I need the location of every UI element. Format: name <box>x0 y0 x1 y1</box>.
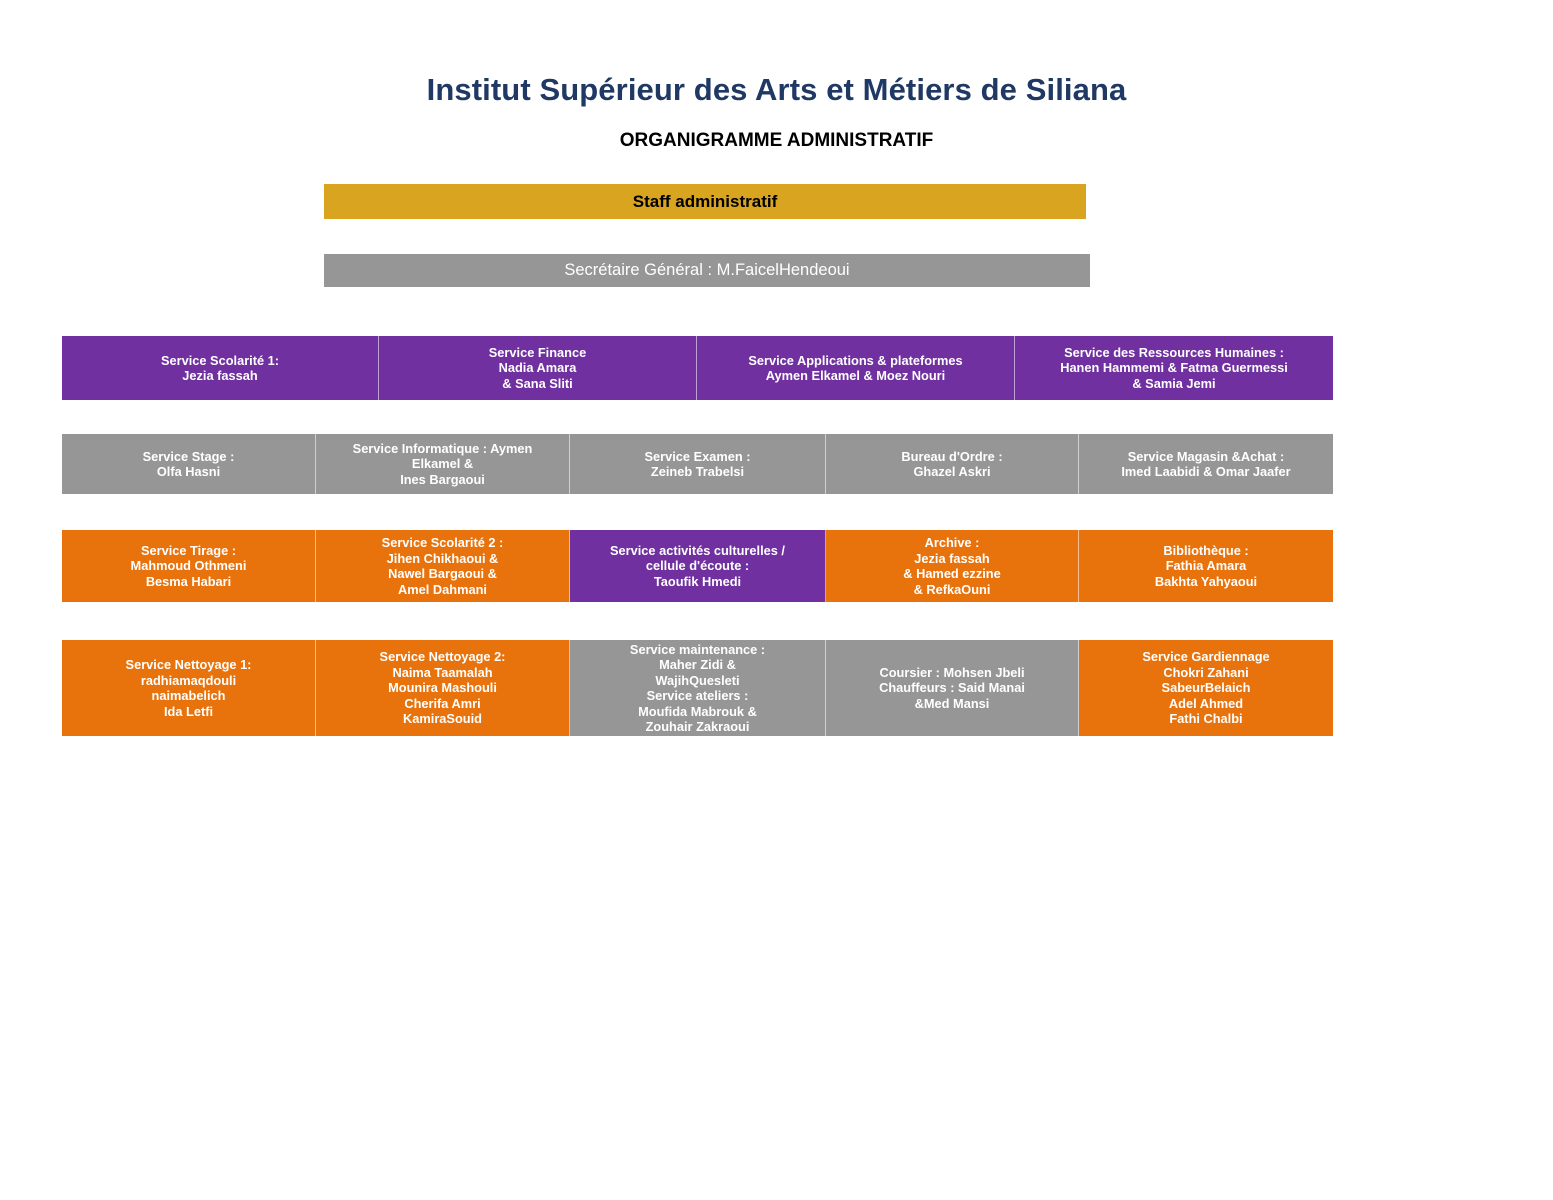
service-cell: Service Applications & plateformesAymen … <box>697 336 1015 400</box>
service-cell-line: Imed Laabidi & Omar Jaafer <box>1121 464 1290 480</box>
service-cell-line: Service Nettoyage 2: <box>380 649 506 665</box>
service-cell-line: &Med Mansi <box>915 696 990 712</box>
service-cell-line: Ines Bargaoui <box>400 472 485 488</box>
service-cell-line: & Samia Jemi <box>1132 376 1215 392</box>
service-cell-line: Coursier : Mohsen Jbeli <box>879 665 1024 681</box>
service-cell-line: Olfa Hasni <box>157 464 220 480</box>
service-cell-line: & RefkaOuni <box>914 582 991 598</box>
secretaire-general-bar: Secrétaire Général : M.FaicelHendeoui <box>324 254 1090 287</box>
service-cell-line: cellule d'écoute : <box>646 558 749 574</box>
service-cell-line: Naima Taamalah <box>392 665 492 681</box>
service-cell: Bureau d'Ordre :Ghazel Askri <box>826 434 1079 494</box>
service-cell-line: Service Examen : <box>645 449 751 465</box>
service-cell: Service FinanceNadia Amara& Sana Sliti <box>379 336 697 400</box>
service-cell-line: Service Magasin &Achat : <box>1128 449 1284 465</box>
staff-administratif-bar: Staff administratif <box>324 184 1086 219</box>
service-cell-line: WajihQuesleti <box>655 673 739 689</box>
service-cell-line: Nawel Bargaoui & <box>388 566 497 582</box>
service-cell: Service Scolarité 1:Jezia fassah <box>62 336 379 400</box>
service-cell-line: Jezia fassah <box>914 551 989 567</box>
service-row-4: Service Nettoyage 1:radhiamaqdoulinaimab… <box>62 640 1333 736</box>
service-cell: Service maintenance :Maher Zidi &WajihQu… <box>570 640 826 736</box>
service-cell-line: Amel Dahmani <box>398 582 487 598</box>
service-cell: Service Tirage :Mahmoud OthmeniBesma Hab… <box>62 530 316 602</box>
organigramme-page: Institut Supérieur des Arts et Métiers d… <box>0 0 1553 1200</box>
service-cell-line: Fathia Amara <box>1166 558 1247 574</box>
chart-subtitle: ORGANIGRAMME ADMINISTRATIF <box>0 128 1553 154</box>
service-cell-line: Besma Habari <box>146 574 231 590</box>
service-cell-line: Service Stage : <box>143 449 235 465</box>
service-cell-line: Service Finance <box>489 345 586 361</box>
service-row-1: Service Scolarité 1:Jezia fassahService … <box>62 336 1333 400</box>
service-cell-line: Adel Ahmed <box>1169 696 1243 712</box>
service-cell: Service Examen :Zeineb Trabelsi <box>570 434 826 494</box>
service-cell-line: Service Applications & plateformes <box>748 353 962 369</box>
service-cell: Service Scolarité 2 :Jihen Chikhaoui &Na… <box>316 530 570 602</box>
service-cell: Coursier : Mohsen JbeliChauffeurs : Said… <box>826 640 1079 736</box>
service-cell: Archive :Jezia fassah& Hamed ezzine& Ref… <box>826 530 1079 602</box>
service-cell-line: Service ateliers : <box>647 688 749 704</box>
service-cell-line: Ghazel Askri <box>913 464 990 480</box>
service-cell-line: Service Informatique : Aymen <box>353 441 533 457</box>
service-cell-line: Service Tirage : <box>141 543 236 559</box>
service-cell-line: Service activités culturelles / <box>610 543 785 559</box>
service-cell-line: Jihen Chikhaoui & <box>387 551 499 567</box>
service-cell-line: SabeurBelaich <box>1162 680 1251 696</box>
service-cell-line: Nadia Amara <box>499 360 577 376</box>
service-cell-line: Zouhair Zakraoui <box>646 719 750 735</box>
service-cell-line: Fathi Chalbi <box>1169 711 1242 727</box>
service-cell: Service Nettoyage 2:Naima TaamalahMounir… <box>316 640 570 736</box>
service-cell: Service Stage :Olfa Hasni <box>62 434 316 494</box>
service-cell: Service GardiennageChokri ZahaniSabeurBe… <box>1079 640 1333 736</box>
service-cell-line: KamiraSouid <box>403 711 482 727</box>
service-cell-line: Mounira Mashouli <box>388 680 497 696</box>
service-cell-line: Elkamel & <box>412 456 473 472</box>
service-cell-line: & Hamed ezzine <box>903 566 1000 582</box>
service-cell: Service Magasin &Achat :Imed Laabidi & O… <box>1079 434 1333 494</box>
service-cell: Bibliothèque :Fathia AmaraBakhta Yahyaou… <box>1079 530 1333 602</box>
service-cell-line: Aymen Elkamel & Moez Nouri <box>766 368 945 384</box>
service-cell-line: Cherifa Amri <box>404 696 480 712</box>
page-title: Institut Supérieur des Arts et Métiers d… <box>0 70 1553 110</box>
service-cell-line: Bibliothèque : <box>1163 543 1248 559</box>
service-cell-line: Archive : <box>925 535 980 551</box>
service-cell-line: radhiamaqdouli <box>141 673 236 689</box>
service-cell: Service Nettoyage 1:radhiamaqdoulinaimab… <box>62 640 316 736</box>
service-cell-line: Chauffeurs : Said Manai <box>879 680 1025 696</box>
service-row-2: Service Stage :Olfa HasniService Informa… <box>62 434 1333 494</box>
service-cell-line: Service des Ressources Humaines : <box>1064 345 1284 361</box>
service-cell-line: Chokri Zahani <box>1163 665 1248 681</box>
service-cell: Service des Ressources Humaines :Hanen H… <box>1015 336 1333 400</box>
service-cell: Service Informatique : AymenElkamel &Ine… <box>316 434 570 494</box>
service-cell-line: naimabelich <box>152 688 226 704</box>
service-cell-line: Bakhta Yahyaoui <box>1155 574 1257 590</box>
service-cell-line: Service Nettoyage 1: <box>126 657 252 673</box>
service-cell: Service activités culturelles /cellule d… <box>570 530 826 602</box>
service-cell-line: Mahmoud Othmeni <box>131 558 247 574</box>
service-cell-line: Service maintenance : <box>630 642 765 658</box>
service-cell-line: Bureau d'Ordre : <box>901 449 1002 465</box>
service-cell-line: Service Gardiennage <box>1142 649 1269 665</box>
service-cell-line: Moufida Mabrouk & <box>638 704 757 720</box>
service-cell-line: Maher Zidi & <box>659 657 736 673</box>
service-cell-line: Service Scolarité 1: <box>161 353 279 369</box>
service-cell-line: Hanen Hammemi & Fatma Guermessi <box>1060 360 1288 376</box>
service-cell-line: Service Scolarité 2 : <box>382 535 504 551</box>
service-cell-line: Ida Letfi <box>164 704 213 720</box>
service-cell-line: Zeineb Trabelsi <box>651 464 744 480</box>
service-cell-line: Jezia fassah <box>182 368 257 384</box>
service-cell-line: & Sana Sliti <box>502 376 572 392</box>
service-row-3: Service Tirage :Mahmoud OthmeniBesma Hab… <box>62 530 1333 602</box>
service-cell-line: Taoufik Hmedi <box>654 574 741 590</box>
